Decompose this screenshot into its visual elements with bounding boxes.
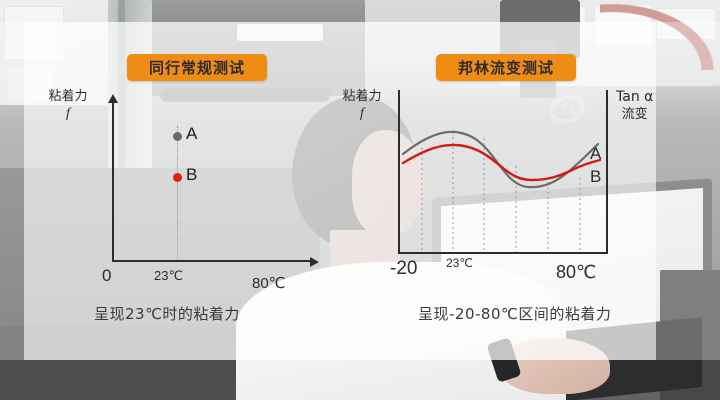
right-series-a-label: A [590,144,601,164]
left-data-point-b-label: B [186,165,197,185]
left-y-axis-arrow-icon [108,94,118,103]
right-x-tick-23c: 23℃ [446,256,473,270]
badge-right-title: 邦林流变测试 [436,54,576,81]
right-series-b-curve [403,145,600,180]
right-secondary-axis-label: Tan α 流变 [616,88,653,124]
badge-left-title: 同行常规测试 [127,54,267,81]
right-chart: 粘着力 f TA A B Tan α [360,86,690,286]
left-y-axis-label: 粘着力 f [32,88,104,122]
left-data-point-b [173,173,182,182]
left-gridline-23c [177,126,178,260]
left-data-point-a [173,132,182,141]
right-caption: 呈现-20-80℃区间的粘着力 [418,303,611,324]
left-x-axis-arrow-icon [310,257,319,267]
slide-canvas: 同行常规测试 邦林流变测试 粘着力 f A B 0 23℃ 80℃ 粘着力 f [0,0,720,400]
left-y-axis-text: 粘着力 [48,89,87,104]
right-secondary-axis-sub: 流变 [616,106,653,124]
right-series-b-label: B [590,167,601,187]
left-x-tick-0: 0 [102,266,111,286]
right-series-a-curve [403,132,598,187]
left-data-point-a-label: A [186,124,197,144]
right-x-tick-80c: 80℃ [556,262,596,283]
left-x-axis-line [112,260,312,262]
left-chart: 粘着力 f A B 0 23℃ 80℃ [24,86,324,286]
left-x-tick-23c: 23℃ [154,268,183,284]
left-x-tick-80c: 80℃ [252,274,286,292]
left-caption: 呈现23℃时的粘着力 [94,303,240,324]
left-y-axis-line [112,102,114,262]
right-x-tick-minus20: -20 [390,258,417,280]
right-secondary-axis-text: Tan α [616,89,653,105]
right-gridlines [422,132,580,252]
left-y-axis-symbol: f [32,105,104,122]
